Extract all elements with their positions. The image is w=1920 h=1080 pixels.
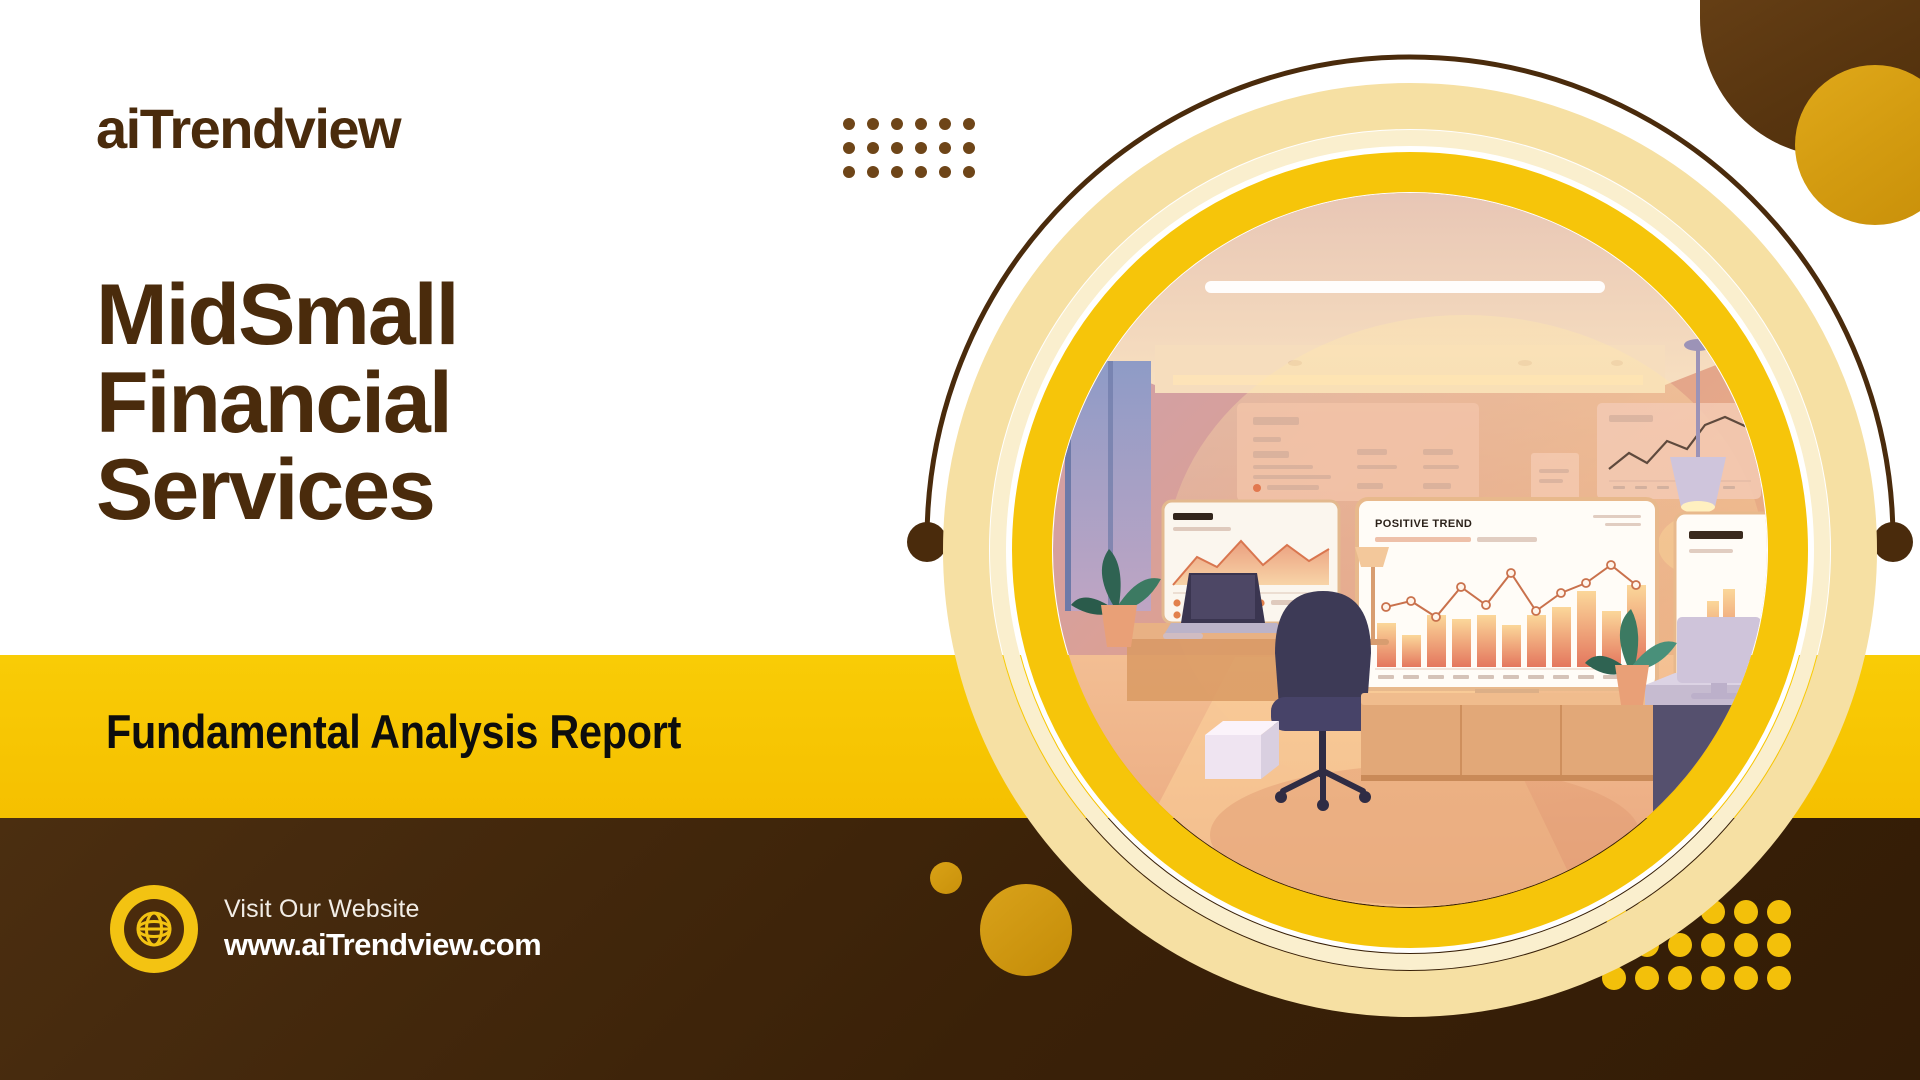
dot [843, 166, 855, 178]
center-monitor-title: POSITIVE TREND [1375, 518, 1472, 530]
hero-circle: POSITIVE TREND [905, 45, 1915, 1055]
x-axis-ticks [1378, 675, 1644, 679]
website-text-block: Visit Our Website www.aiTrendview.com [224, 894, 541, 963]
wall-panel-left [1237, 403, 1479, 501]
dot [891, 166, 903, 178]
page-title-line-2: Financial [96, 360, 756, 448]
report-subtitle: Fundamental Analysis Report [106, 704, 681, 759]
globe-icon [132, 907, 176, 951]
brand-logo: aiTrendview [96, 96, 400, 161]
dot [867, 118, 879, 130]
page-title-line-1: MidSmall [96, 272, 756, 360]
dot [867, 142, 879, 154]
center-monitor: POSITIVE TREND [1357, 499, 1657, 709]
globe-badge [110, 885, 198, 973]
arc-end-dot-right [1873, 522, 1913, 562]
page-title-line-3: Services [96, 447, 756, 535]
page-title: MidSmall Financial Services [96, 272, 756, 535]
dot [891, 118, 903, 130]
dot [867, 166, 879, 178]
visit-label: Visit Our Website [224, 894, 541, 925]
globe-badge-inner [124, 899, 184, 959]
website-url[interactable]: www.aiTrendview.com [224, 926, 541, 964]
dot [891, 142, 903, 154]
arc-end-dot-left [907, 522, 947, 562]
dot [843, 142, 855, 154]
dot [843, 118, 855, 130]
hero-svg: POSITIVE TREND [905, 45, 1915, 1055]
website-footer[interactable]: Visit Our Website www.aiTrendview.com [110, 885, 541, 973]
poster-canvas: aiTrendview MidSmall Financial Services … [0, 0, 1920, 1080]
